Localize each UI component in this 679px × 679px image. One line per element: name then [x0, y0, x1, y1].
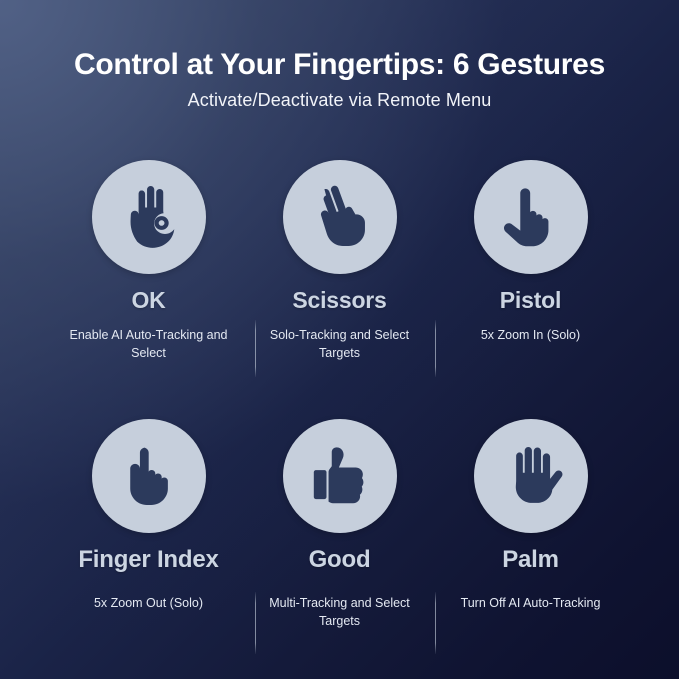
gesture-description: 5x Zoom Out (Solo)	[94, 594, 203, 612]
gesture-card-scissors: Scissors Solo-Tracking and Select Target…	[244, 160, 435, 362]
gesture-row-top: OK Enable AI Auto-Tracking and Select Sc…	[53, 160, 626, 362]
gesture-card-ok: OK Enable AI Auto-Tracking and Select	[53, 160, 244, 362]
page-subtitle: Activate/Deactivate via Remote Menu	[0, 90, 679, 112]
column-divider	[255, 592, 256, 654]
ok-hand-icon	[92, 160, 206, 274]
gesture-description: Multi-Tracking and Select Targets	[260, 594, 420, 630]
palm-hand-icon	[474, 419, 588, 533]
finger-index-hand-icon	[92, 419, 206, 533]
column-divider	[435, 320, 436, 377]
gesture-name: OK	[131, 288, 165, 314]
gesture-description: Turn Off AI Auto-Tracking	[461, 594, 601, 612]
gesture-name: Scissors	[292, 288, 386, 314]
gesture-name: Good	[309, 547, 371, 574]
gesture-card-good: Good Multi-Tracking and Select Targets	[244, 419, 435, 630]
column-divider	[255, 320, 256, 377]
gesture-infographic: Control at Your Fingertips: 6 Gestures A…	[0, 0, 679, 679]
scissors-hand-icon	[283, 160, 397, 274]
gesture-card-pistol: Pistol 5x Zoom In (Solo)	[435, 160, 626, 362]
gesture-name: Finger Index	[78, 547, 218, 574]
page-title: Control at Your Fingertips: 6 Gestures	[0, 48, 679, 82]
gesture-row-bottom: Finger Index 5x Zoom Out (Solo) Good Mul…	[53, 419, 626, 630]
gesture-name: Palm	[502, 547, 559, 574]
gesture-description: Solo-Tracking and Select Targets	[260, 326, 420, 362]
pistol-hand-icon	[474, 160, 588, 274]
gesture-description: Enable AI Auto-Tracking and Select	[69, 326, 229, 362]
gesture-name: Pistol	[500, 288, 561, 314]
header: Control at Your Fingertips: 6 Gestures A…	[0, 48, 679, 111]
gesture-grid: OK Enable AI Auto-Tracking and Select Sc…	[53, 160, 626, 630]
gesture-card-palm: Palm Turn Off AI Auto-Tracking	[435, 419, 626, 630]
gesture-description: 5x Zoom In (Solo)	[481, 326, 580, 344]
column-divider	[435, 592, 436, 654]
gesture-card-finger-index: Finger Index 5x Zoom Out (Solo)	[53, 419, 244, 630]
thumbs-up-hand-icon	[283, 419, 397, 533]
